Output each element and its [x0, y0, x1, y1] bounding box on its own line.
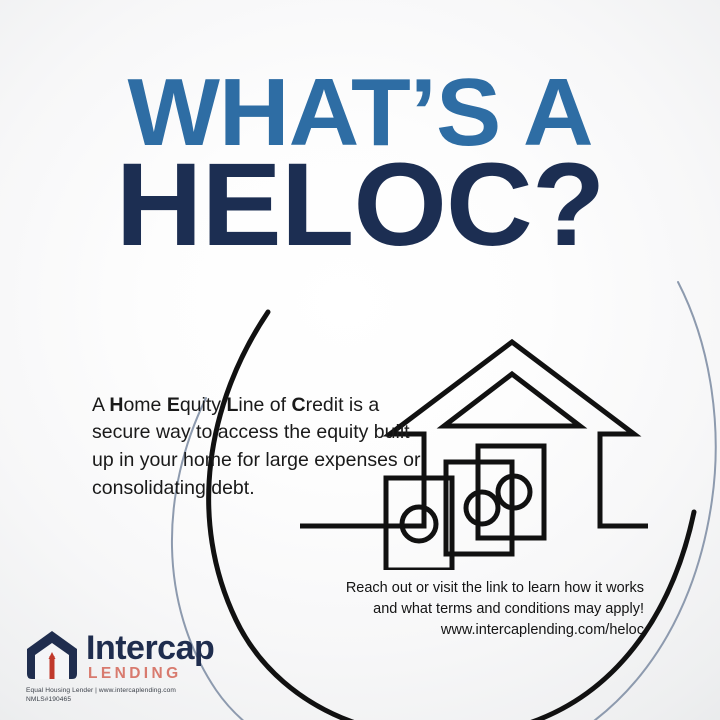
body-segment-6: ine of [238, 394, 291, 416]
body-segment-2: ome [123, 394, 166, 416]
body-segment-1: H [109, 394, 123, 416]
logo-disclaimer: Equal Housing Lender | www.intercaplendi… [26, 686, 214, 705]
page-title: WHAT’S A HELOC? [0, 68, 720, 261]
cta-url[interactable]: www.intercaplending.com/heloc [244, 620, 644, 641]
intercap-lending-logo[interactable]: Intercap LENDING Equal Housing Lender | … [26, 630, 214, 705]
disclaimer-line-2: NMLS#190465 [26, 695, 214, 705]
title-line-2: HELOC? [0, 151, 720, 261]
logo-wordmark: Intercap [86, 631, 214, 665]
body-segment-0: A [92, 394, 109, 416]
heloc-infographic: WHAT’S A HELOC? A Home Equity Line of Cr… [0, 0, 720, 720]
logo-tagline: LENDING [88, 666, 214, 682]
cta-line-1: Reach out or visit the link to learn how… [244, 578, 644, 599]
body-segment-5: L [226, 394, 238, 416]
body-segment-7: C [291, 394, 305, 416]
body-segment-3: E [167, 394, 180, 416]
body-description: A Home Equity Line of Credit is a secure… [92, 392, 422, 503]
house-roof-inner [444, 374, 580, 426]
disclaimer-line-1: Equal Housing Lender | www.intercaplendi… [26, 686, 214, 696]
banknote-middle-seal [466, 492, 498, 524]
body-segment-4: quity [180, 394, 227, 416]
logo-accent-mark [50, 656, 55, 679]
call-to-action: Reach out or visit the link to learn how… [244, 578, 644, 641]
cta-line-2: and what terms and conditions may apply! [244, 599, 644, 620]
house-logo-icon [26, 630, 78, 680]
